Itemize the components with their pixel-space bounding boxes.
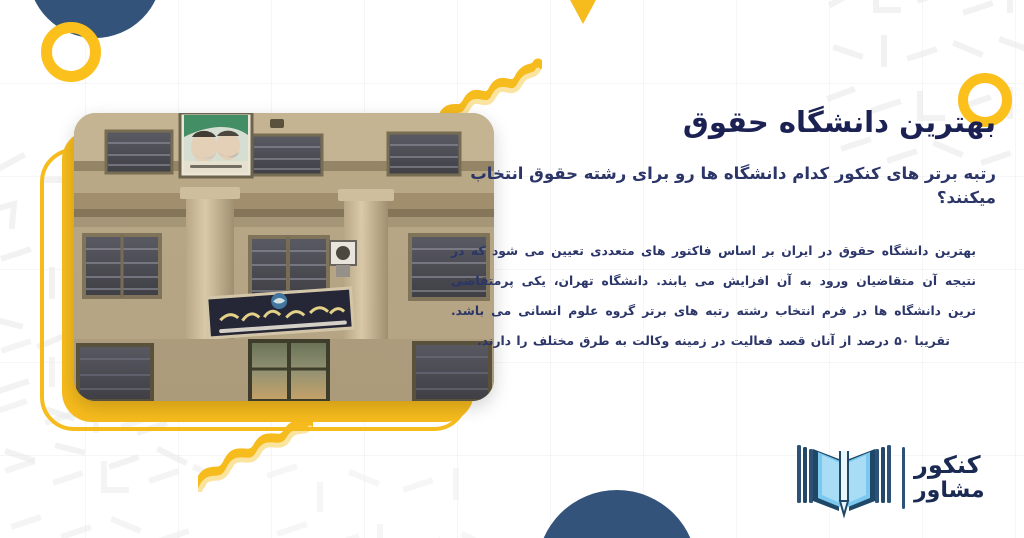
body-paragraph: بهترین دانشگاه حقوق در ایران بر اساس فاک… xyxy=(451,236,976,357)
open-book-pencil-icon xyxy=(795,437,893,519)
yellow-ring-decoration-left xyxy=(41,22,101,82)
logo-wordmark: کنکور مشاور xyxy=(914,452,985,504)
photo-illustration xyxy=(74,113,494,401)
banner-canvas: بهترین دانشگاه حقوق رتبه برتر های کنکور … xyxy=(0,0,1024,538)
subheadline: رتبه برتر های کنکور کدام دانشگاه ها رو ب… xyxy=(451,162,996,210)
logo-word-top: کنکور xyxy=(914,452,981,479)
text-content-column: بهترین دانشگاه حقوق رتبه برتر های کنکور … xyxy=(451,104,996,356)
logo-divider xyxy=(902,447,905,509)
memphis-pattern-bottom-center xyxy=(260,455,500,538)
brand-logo[interactable]: کنکور مشاور xyxy=(795,430,995,525)
navy-circle-decoration-bottom xyxy=(537,490,697,538)
faculty-building-photo xyxy=(74,113,494,401)
logo-word-bottom: مشاور xyxy=(914,479,985,504)
page-title: بهترین دانشگاه حقوق xyxy=(451,104,996,142)
yellow-triangle-decoration xyxy=(569,0,597,24)
